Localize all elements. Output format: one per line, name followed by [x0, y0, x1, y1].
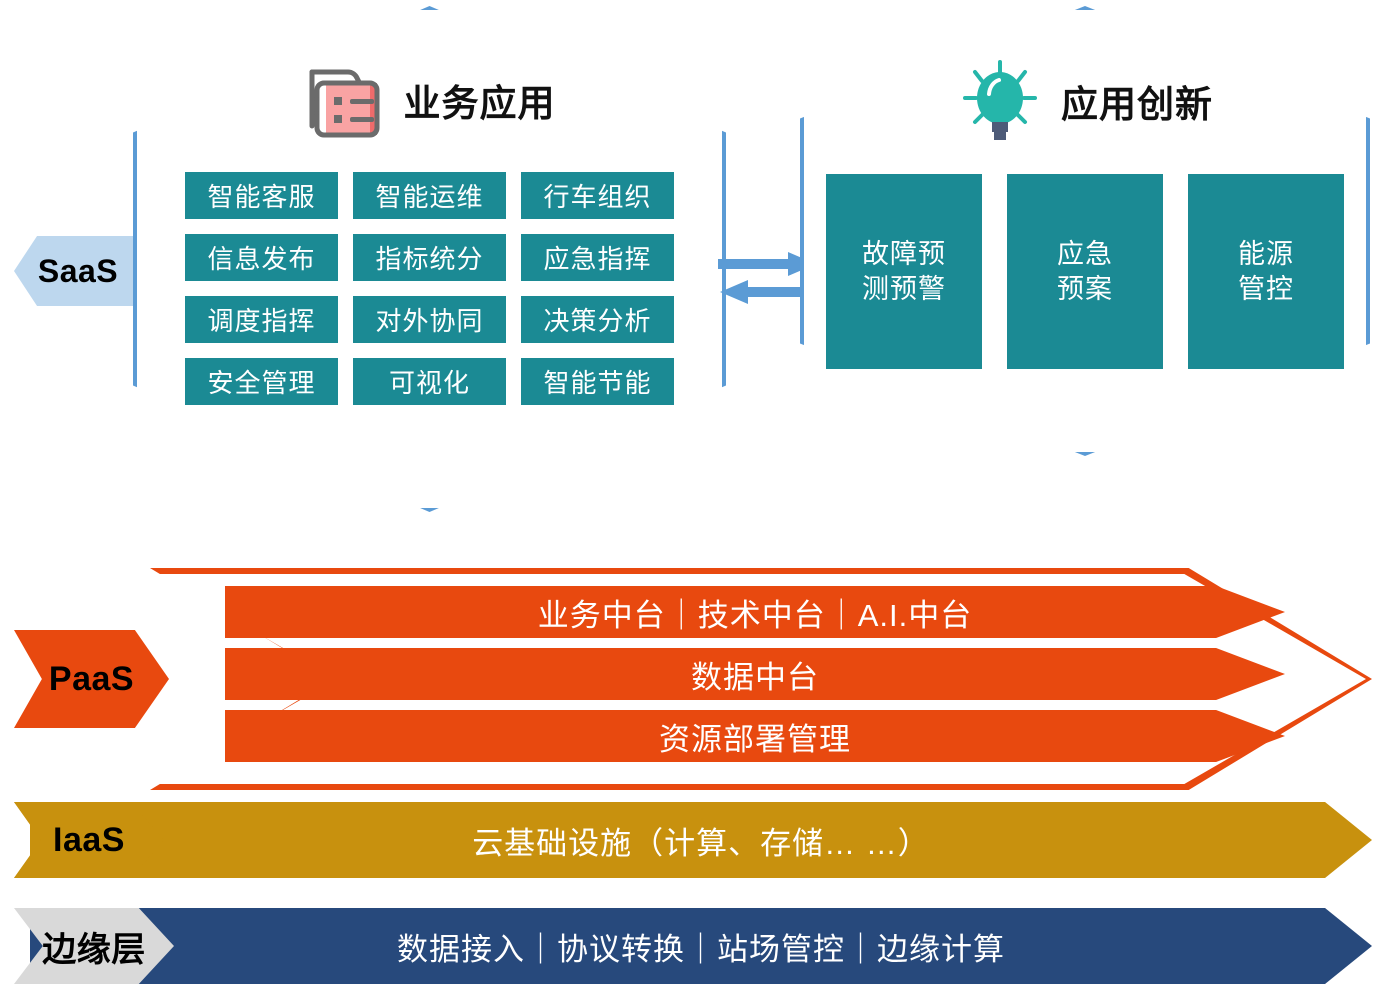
business-application-tag-grid: 智能客服 智能运维 行车组织 信息发布 指标统分 应急指挥 调度指挥 对外协同 … — [185, 172, 674, 405]
innovation-card-line: 能源 — [1238, 237, 1294, 272]
edge-label-text: 边缘层 — [42, 922, 146, 971]
edge-band[interactable]: 数据接入｜协议转换｜站场管控｜边缘计算 — [30, 908, 1372, 984]
paas-row[interactable]: 数据中台 — [225, 648, 1285, 700]
app-tag[interactable]: 信息发布 — [185, 234, 338, 281]
app-tag[interactable]: 智能运维 — [353, 172, 506, 219]
business-application-content: 业务应用 智能客服 智能运维 行车组织 信息发布 指标统分 应急指挥 调度指挥 … — [133, 6, 726, 512]
app-innovation-card-row: 故障预 测预警 应急 预案 能源 管控 — [826, 174, 1344, 369]
paas-row[interactable]: 业务中台｜技术中台｜A.I.中台 — [225, 586, 1285, 638]
lightbulb-icon — [957, 58, 1043, 144]
iaas-label-text-overlay: IaaS — [53, 821, 125, 860]
paas-row-text: 资源部署管理 — [659, 714, 851, 759]
app-innovation-title: 应用创新 — [1061, 74, 1213, 128]
innovation-card-line: 预案 — [1057, 272, 1113, 307]
innovation-card[interactable]: 故障预 测预警 — [826, 174, 982, 369]
app-tag[interactable]: 对外协同 — [353, 296, 506, 343]
app-tag[interactable]: 智能节能 — [521, 358, 674, 405]
innovation-card-line: 管控 — [1238, 272, 1294, 307]
business-application-title: 业务应用 — [404, 73, 556, 127]
edge-band-text: 数据接入｜协议转换｜站场管控｜边缘计算 — [397, 924, 1005, 969]
saas-layer-label[interactable]: SaaS — [14, 236, 142, 306]
app-tag[interactable]: 智能客服 — [185, 172, 338, 219]
paas-layer-label[interactable]: PaaS — [14, 630, 169, 728]
app-tag[interactable]: 指标统分 — [353, 234, 506, 281]
innovation-card-line: 故障预 — [862, 237, 946, 272]
paas-label-text: PaaS — [49, 660, 134, 699]
architecture-diagram: SaaS — [0, 0, 1375, 996]
app-tag[interactable]: 调度指挥 — [185, 296, 338, 343]
paas-row-text: 业务中台｜技术中台｜A.I.中台 — [538, 590, 973, 635]
saas-label-text: SaaS — [38, 253, 118, 290]
paas-row[interactable]: 资源部署管理 — [225, 710, 1285, 762]
innovation-card[interactable]: 能源 管控 — [1188, 174, 1344, 369]
iaas-band-text: 云基础设施（计算、存储… …） — [472, 818, 930, 863]
iaas-band[interactable]: 云基础设施（计算、存储… …） — [30, 802, 1372, 878]
app-tag[interactable]: 可视化 — [353, 358, 506, 405]
app-innovation-content: 应用创新 故障预 测预警 应急 预案 能源 管控 — [800, 6, 1370, 456]
business-application-header: 业务应用 — [304, 58, 556, 142]
paas-row-text: 数据中台 — [691, 652, 819, 697]
app-tag[interactable]: 应急指挥 — [521, 234, 674, 281]
folder-list-icon — [304, 58, 386, 142]
app-tag[interactable]: 行车组织 — [521, 172, 674, 219]
app-innovation-header: 应用创新 — [957, 58, 1213, 144]
app-tag[interactable]: 决策分析 — [521, 296, 674, 343]
innovation-card-line: 测预警 — [862, 272, 946, 307]
innovation-card-line: 应急 — [1057, 237, 1113, 272]
app-tag[interactable]: 安全管理 — [185, 358, 338, 405]
innovation-card[interactable]: 应急 预案 — [1007, 174, 1163, 369]
